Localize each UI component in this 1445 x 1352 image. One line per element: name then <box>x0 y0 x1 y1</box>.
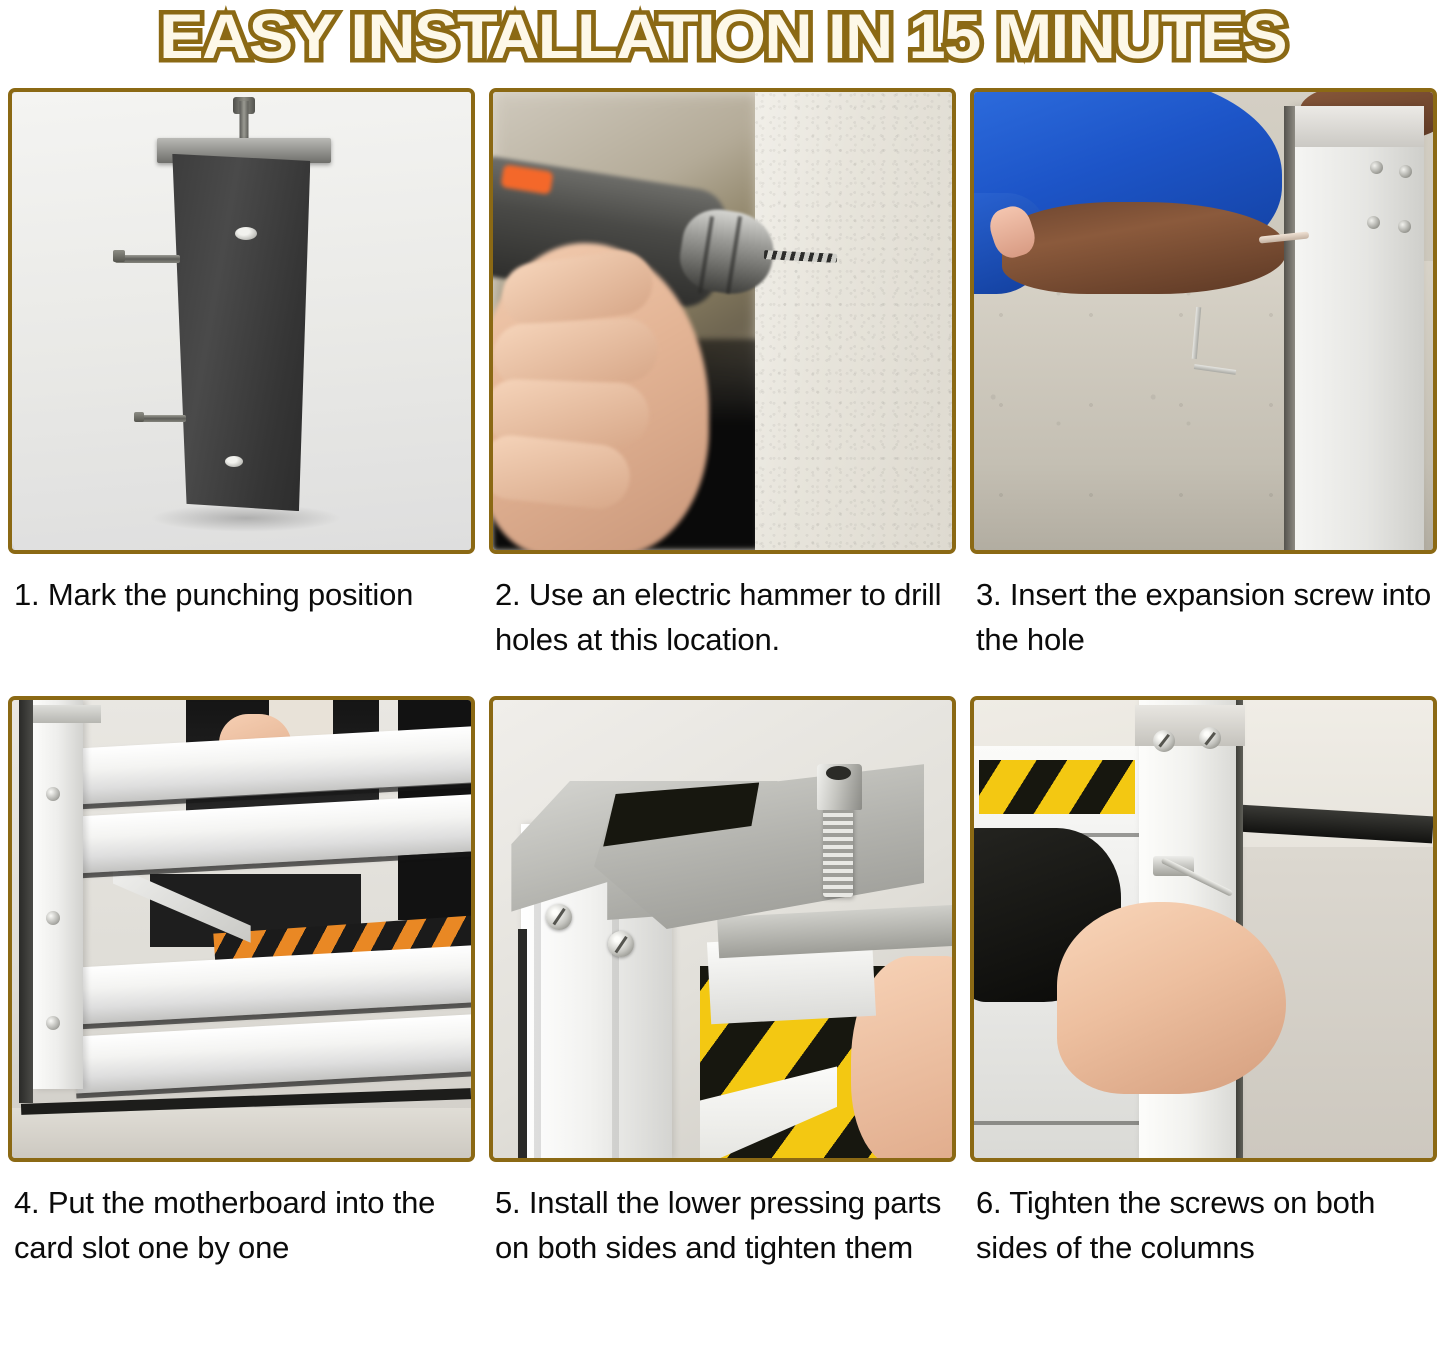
card-slot-column <box>33 700 83 1089</box>
step-1-caption: 1. Mark the punching position <box>8 554 475 686</box>
column-screw-3 <box>1367 216 1380 229</box>
worker-arm <box>1002 202 1287 294</box>
step-5-photo-frame <box>489 696 956 1162</box>
step-6-caption: 6. Tighten the screws on both sides of t… <box>970 1162 1437 1294</box>
column-dark-edge <box>1284 106 1295 550</box>
panel-seam-3 <box>974 1121 1148 1125</box>
header-banner: EASY INSTALLATION IN 15 MINUTES <box>0 0 1445 88</box>
installation-steps-grid: 1. Mark the punching position <box>0 88 1445 1294</box>
column-top-cap <box>33 705 102 723</box>
column-top-screw-1 <box>1153 730 1175 752</box>
step-4-photo-motherboard-card-slot <box>12 700 471 1158</box>
bracket-screw-2 <box>608 931 634 957</box>
step-2-caption: 2. Use an electric hammer to drill holes… <box>489 554 956 686</box>
textured-wall <box>755 92 952 550</box>
step-4: 4. Put the motherboard into the card slo… <box>8 696 475 1294</box>
step-6-photo-frame <box>970 696 1437 1162</box>
step-6-photo-tighten-column-screws <box>974 700 1433 1158</box>
step-6: 6. Tighten the screws on both sides of t… <box>970 696 1437 1294</box>
step-3-photo-frame <box>970 88 1437 554</box>
step-1: 1. Mark the punching position <box>8 88 475 686</box>
hazard-stripe-tape <box>979 760 1135 815</box>
row-spacer-b <box>489 686 956 696</box>
column-screw-1 <box>1370 161 1383 174</box>
step-5: 5. Install the lower pressing parts on b… <box>489 696 956 1294</box>
step-4-caption: 4. Put the motherboard into the card slo… <box>8 1162 475 1294</box>
bracket-screw-1 <box>546 904 572 930</box>
bolt-hex-socket <box>826 766 851 780</box>
step-2-photo-drill-holes <box>493 92 952 550</box>
bolt-head-upper <box>113 250 125 262</box>
step-4-photo-frame <box>8 696 475 1162</box>
column-top-cap <box>1295 106 1424 147</box>
step-3-photo-insert-expansion-screw <box>974 92 1433 550</box>
row-spacer-c <box>970 686 1437 696</box>
column-shadow-edge <box>518 929 527 1158</box>
step-5-photo-lower-pressing-parts <box>493 700 952 1158</box>
mounting-hole-upper <box>235 227 257 240</box>
step-1-photo-mark-punching-position <box>12 92 471 550</box>
bolt-threaded-shaft <box>823 805 853 897</box>
row-spacer-a <box>8 686 475 696</box>
post-shadow <box>150 504 343 532</box>
step-2: 2. Use an electric hammer to drill holes… <box>489 88 956 686</box>
step-3-caption: 3. Insert the expansion screw into the h… <box>970 554 1437 686</box>
step-1-photo-frame <box>8 88 475 554</box>
column-top-cap <box>1135 705 1245 746</box>
floor <box>12 1108 471 1158</box>
page-title: EASY INSTALLATION IN 15 MINUTES <box>159 2 1286 72</box>
step-2-photo-frame <box>489 88 956 554</box>
step-3: 3. Insert the expansion screw into the h… <box>970 88 1437 686</box>
step-5-caption: 5. Install the lower pressing parts on b… <box>489 1162 956 1294</box>
bolt-head-lower <box>134 412 144 422</box>
column-dark-edge <box>19 700 33 1103</box>
